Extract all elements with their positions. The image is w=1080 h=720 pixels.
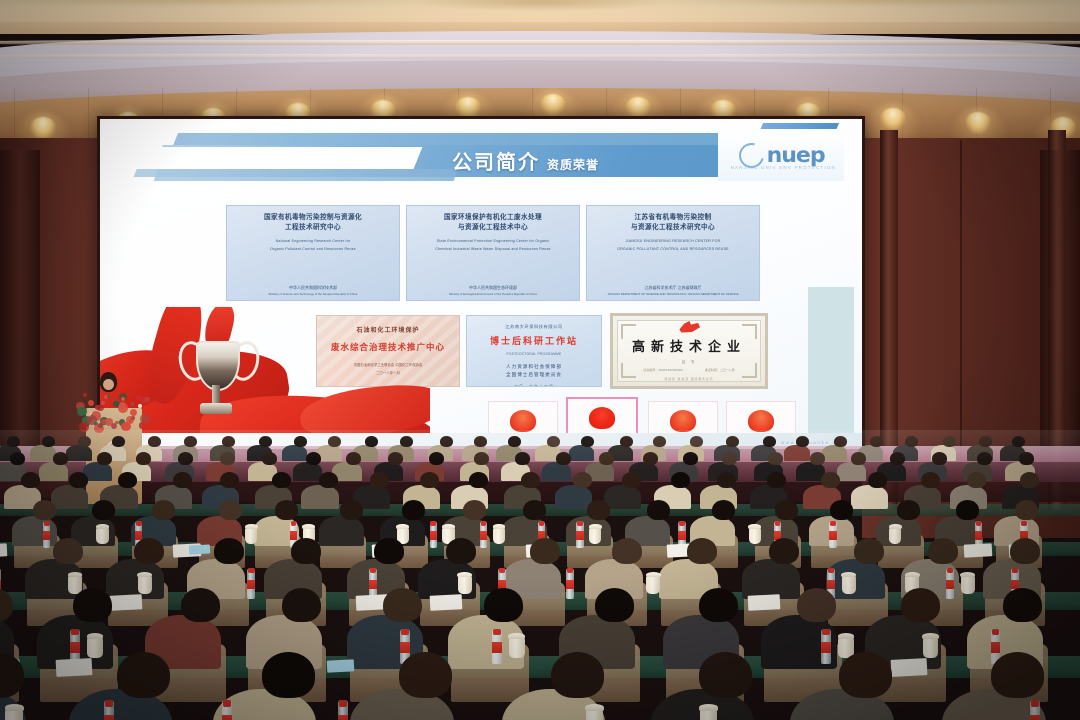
audience-shoulders [826,559,885,599]
bottle-cap [1012,568,1019,574]
audience-head [262,652,315,698]
cert-postdoc-issuer1: 人力资源和社会保障部 [506,363,562,371]
audience-head [587,500,610,520]
bottle-cap [822,629,829,635]
audience-shoulders [742,559,801,599]
audience-head [53,538,83,564]
tea-cup [96,527,108,543]
tea-cup-lid [5,704,24,711]
flower [130,409,137,416]
projection-screen: 公司简介 资质荣誉 nuep NANJING UNIV ENV PROTECTI… [97,116,865,452]
audience-head [214,538,244,564]
flower [119,402,126,409]
tea-cup-lid [457,572,472,578]
certificate-high-tech-enterprise: 高新技术企业 证 书 证书编号：GR201832000000 发证时间：二〇一八… [610,313,768,389]
audience-head [463,500,486,520]
audience-head [117,652,170,698]
audience-head [118,472,137,488]
stage-haze [0,430,1080,470]
audience-shoulders [51,485,88,509]
seated-audience [0,430,1080,720]
audience-head [769,538,799,564]
audience-head [712,500,735,520]
audience-head [573,472,592,488]
audience-head [181,588,220,622]
notepad [110,594,142,611]
tea-cup-lid [96,524,109,529]
tea-cup [245,527,257,543]
audience-head [420,472,439,488]
blue-document [189,544,210,554]
audience-head [469,472,488,488]
plaque-en-line1: National Engineering Research Center for [276,238,351,244]
tea-cup-lid [585,704,604,711]
tea-cup-lid [508,633,525,639]
tea-cup-lid [889,524,902,529]
cert-postdoc-company: 江苏南大环保科技有限公司 [505,324,562,330]
audience-shoulders [12,516,57,546]
audience-head [282,588,321,622]
tea-cup-lid [838,633,855,639]
audience-shoulders [555,485,592,509]
header-band-bottom [154,169,459,181]
audience-head [868,472,887,488]
hitech-col1: 证书编号：GR201832000000 [643,368,683,372]
hitech-detail-row: 证书编号：GR201832000000 发证时间：二〇一八年 [643,368,735,372]
audience-head [928,538,958,564]
tea-cup-lid [442,524,455,529]
tea-cup-lid [646,572,661,578]
audience-head [73,588,112,622]
flower [88,400,94,406]
audience-head [291,538,321,564]
plaque-en-line2: Chemical Industrial Waste Water Disposal… [435,246,550,252]
audience-head [521,472,540,488]
audience-head [699,588,738,622]
plaque-cn-line1: 江苏省有机毒物污染控制 [635,213,712,223]
ceiling-trim-line [0,54,1080,59]
notepad [748,594,780,611]
audience-head [671,472,690,488]
bottle-label [290,531,297,539]
tea-cup-lid [960,572,975,578]
tea-cup [589,527,601,543]
flower [77,407,87,417]
plaque-national-erc: 国家有机毒物污染控制与资源化 工程技术研究中心 National Enginee… [226,205,400,301]
audience-head [484,588,523,622]
audience-head [967,472,986,488]
audience-shoulders [566,516,611,546]
bottle-cap [430,521,436,526]
bottle-label [369,580,377,589]
plaque-cn-line2: 与资源化工程技术研究中心 [631,223,715,233]
plaque-cn-line2: 与资源化工程技术中心 [458,223,528,233]
tea-cup-lid [699,704,718,711]
audience-head [69,472,88,488]
podium-flower-arrangement [76,392,152,428]
plaque-issuer-en: Ministry of Science and Technology of th… [269,292,358,296]
bottle-label [480,531,487,539]
conference-hall-photo: 公司简介 资质荣誉 nuep NANJING UNIV ENV PROTECTI… [0,0,1080,720]
audience-head [717,472,736,488]
tea-cup-lid [245,524,258,529]
audience-head [647,500,670,520]
tea-cup-lid [396,524,409,529]
audience-head [272,472,291,488]
tea-cup [493,527,505,543]
audience-head [839,652,892,698]
flower [107,395,110,398]
bottle-label [104,715,115,720]
tea-cup-lid [493,524,506,529]
audience-shoulders [301,485,338,509]
ceiling-trim-line [0,40,1080,45]
plaque-issuer-en: JIANGSU DEPARTMENT OF SCIENCE AND TECHNO… [607,292,738,296]
tea-cup-lid [302,524,315,529]
tea-cup-lid [68,572,83,578]
bottle-cap [105,700,113,707]
bottle-label [492,642,501,653]
audience-head [551,652,604,698]
corner-ornament [621,324,636,339]
tea-cup [961,575,975,594]
audience-head [901,588,940,622]
hitech-col2: 发证时间：二〇一八年 [705,368,735,372]
hitech-footer: 科技部 财政部 国家税务总局 [664,377,713,381]
bottle-cap [830,521,836,526]
audience-head [399,652,452,698]
audience-head [699,652,752,698]
slide-side-block [808,287,854,449]
bottle-label [338,715,349,720]
header-white-wedge [100,143,164,161]
bottle-label [135,531,142,539]
slide-header-text: 公司简介 资质荣誉 [452,146,599,176]
speaker-face [103,379,114,390]
bottle-label [43,531,50,539]
audience-head [152,500,175,520]
flower [105,418,112,425]
trophy-cup [196,341,240,391]
bottle-cap [679,521,685,526]
audience-head [797,588,836,622]
bottle-label [821,642,830,653]
certificate-postdoctoral-station: 江苏南大环保科技有限公司 博士后科研工作站 POSTDOCTORAL PROGR… [466,315,602,387]
wall-seam [960,140,962,470]
bottle-label [576,531,583,539]
tea-cup-lid [905,572,920,578]
bottle-cap [481,521,487,526]
bottle-cap [291,521,297,526]
audience-head [1020,472,1039,488]
audience-head [220,472,239,488]
bottle-cap [1021,521,1027,526]
ceiling-downlight [965,112,991,134]
cert-postdoc-date: 二〇一五年十二月 [514,384,554,387]
tea-cup-lid [137,572,152,578]
tea-cup [646,575,660,594]
plaque-cn-line1: 国家环境保护有机化工废水处理 [444,213,542,223]
audience-shoulders [604,485,641,509]
national-emblem-icon [670,410,696,432]
bottle-cap [577,521,583,526]
flame-emblem-icon [677,321,701,333]
tea-cup [749,527,761,543]
flower [121,397,125,401]
bottle-cap [567,568,574,574]
tea-cup [842,575,856,594]
ceiling-downlight [30,117,56,139]
slide-subtitle: 资质荣誉 [547,156,599,173]
bottle-label [1030,715,1041,720]
header-white-wedge [124,147,423,169]
plaque-cn-line1: 国家有机毒物污染控制与资源化 [264,213,362,223]
bottle-cap [370,568,377,574]
audience-shoulders [319,516,364,546]
audience-head [956,500,979,520]
bottle-label [430,531,437,539]
notepad [0,543,7,557]
bottle-label [566,580,574,589]
audience-head [173,472,192,488]
corner-ornament [742,324,757,339]
audience-head [821,472,840,488]
audience-head [595,588,634,622]
audience-shoulders [106,559,165,599]
tea-cup [889,527,901,543]
bottle-label [400,642,409,653]
logo-tagline: NANJING UNIV ENV PROTECTION [731,165,836,170]
audience-shoulders [851,485,888,509]
blue-document [326,660,354,673]
audience-head [1015,500,1038,520]
bottle-label [829,531,836,539]
audience-head [370,472,389,488]
bottle-cap [493,629,500,635]
corner-ornament [742,363,757,378]
notepad [430,594,462,611]
tea-cup-lid [589,524,602,529]
audience-head [612,538,642,564]
bottle-cap [339,700,347,707]
ceiling-downlight [880,108,906,130]
national-emblem-icon [510,410,536,432]
slide-title: 公司简介 [452,146,540,175]
audience-head [446,538,476,564]
audience-head [530,538,560,564]
plaque-jiangsu-erc: 江苏省有机毒物污染控制 与资源化工程技术研究中心 JIANGSU ENGINEE… [586,205,760,301]
bottle-label [975,531,982,539]
tea-cup-lid [748,524,761,529]
audience-head [21,472,40,488]
audience-head [991,652,1044,698]
bottle-cap [976,521,982,526]
audience-head [854,538,884,564]
bottle-label [991,642,1000,653]
tea-cup [87,637,103,658]
audience-head [319,472,338,488]
plaque-cn-line2: 工程技术研究中心 [285,223,341,233]
bottle-cap [136,521,142,526]
bottle-cap [775,521,781,526]
tea-cup [509,637,525,658]
cert-postdoc-issuer2: 全国博士后管理委员会 [506,371,562,379]
corner-ornament [621,363,636,378]
audience-head [622,472,641,488]
audience-head [383,588,422,622]
bottle-label [0,580,1,589]
hitech-inner-frame: 高新技术企业 证 书 证书编号：GR201832000000 发证时间：二〇一八… [617,320,761,382]
audience-head [374,538,404,564]
presentation-slide: 公司简介 资质荣誉 nuep NANJING UNIV ENV PROTECTI… [100,119,862,449]
plaque-state-epec: 国家环境保护有机化工废水处理 与资源化工程技术中心 State Environm… [406,205,580,301]
audience-head [92,500,115,520]
plaque-en-line1: State Environmental Protection Engineeri… [437,238,549,244]
audience-head [1010,538,1040,564]
bottle-cap [828,568,835,574]
bottle-cap [539,521,545,526]
plaque-issuer-en: Ministry of Ecological Environment of th… [449,292,537,296]
audience-head [340,500,363,520]
company-logo: nuep [718,129,844,181]
audience-head [830,500,853,520]
hitech-title: 高新技术企业 [632,336,746,355]
flower [140,397,148,405]
bottle-cap [401,629,408,635]
audience-head [687,538,717,564]
flower [83,393,87,397]
tea-cup [458,575,472,594]
trophy-icon [180,325,252,425]
plaque-en-line1: JIANGSU ENGINEERING RESEARCH CENTER FOR [626,238,721,244]
notepad [963,543,991,557]
bottle-cap [223,700,231,707]
bottle-cap [44,521,50,526]
bottle-cap [992,629,999,635]
tea-cup [923,637,939,658]
national-emblem-icon [748,410,774,432]
audience-head [275,500,298,520]
bottle-label [827,580,835,589]
tea-cup-lid [922,633,939,639]
ornate-ceiling-molding [0,0,1080,24]
tea-cup-lid [841,572,856,578]
plaque-en-line2: ORGANIC POLLUTANT CONTROL AND RESOURCES … [617,246,729,252]
logo-wordmark: nuep [767,143,825,167]
bottle-label [678,531,685,539]
audience-head [523,500,546,520]
bottle-label [222,715,233,720]
bottle-label [70,642,79,653]
audience-head [402,500,425,520]
bottle-cap [71,629,78,635]
cert-postdoc-en: POSTDOCTORAL PROGRAMME [507,352,562,356]
bottle-label [247,580,255,589]
audience-head [219,500,242,520]
trophy-stem [212,385,220,405]
audience-head [775,500,798,520]
notepad [55,658,92,677]
tea-cup [138,575,152,594]
cert-postdoc-title: 博士后科研工作站 [490,334,578,347]
bottle-cap [947,568,954,574]
plaque-en-line2: Organic Pollutant Control and Resources … [270,246,356,252]
ceiling-downlight [540,94,566,116]
audience-head [1003,588,1042,622]
audience-head [134,538,164,564]
flower [138,404,142,408]
bottle-label [946,580,954,589]
national-emblem-icon [589,407,615,429]
bottle-cap [1031,700,1039,707]
audience-head [767,472,786,488]
trophy-base [200,403,232,414]
audience-head [921,472,940,488]
flower [131,402,134,405]
bottle-cap [248,568,255,574]
audience-head [897,500,920,520]
flower [131,416,134,419]
audience-head [33,500,56,520]
flower [97,405,103,411]
hitech-subtitle: 证 书 [682,360,696,365]
tea-cup-lid [87,633,104,639]
notepad [891,658,928,677]
